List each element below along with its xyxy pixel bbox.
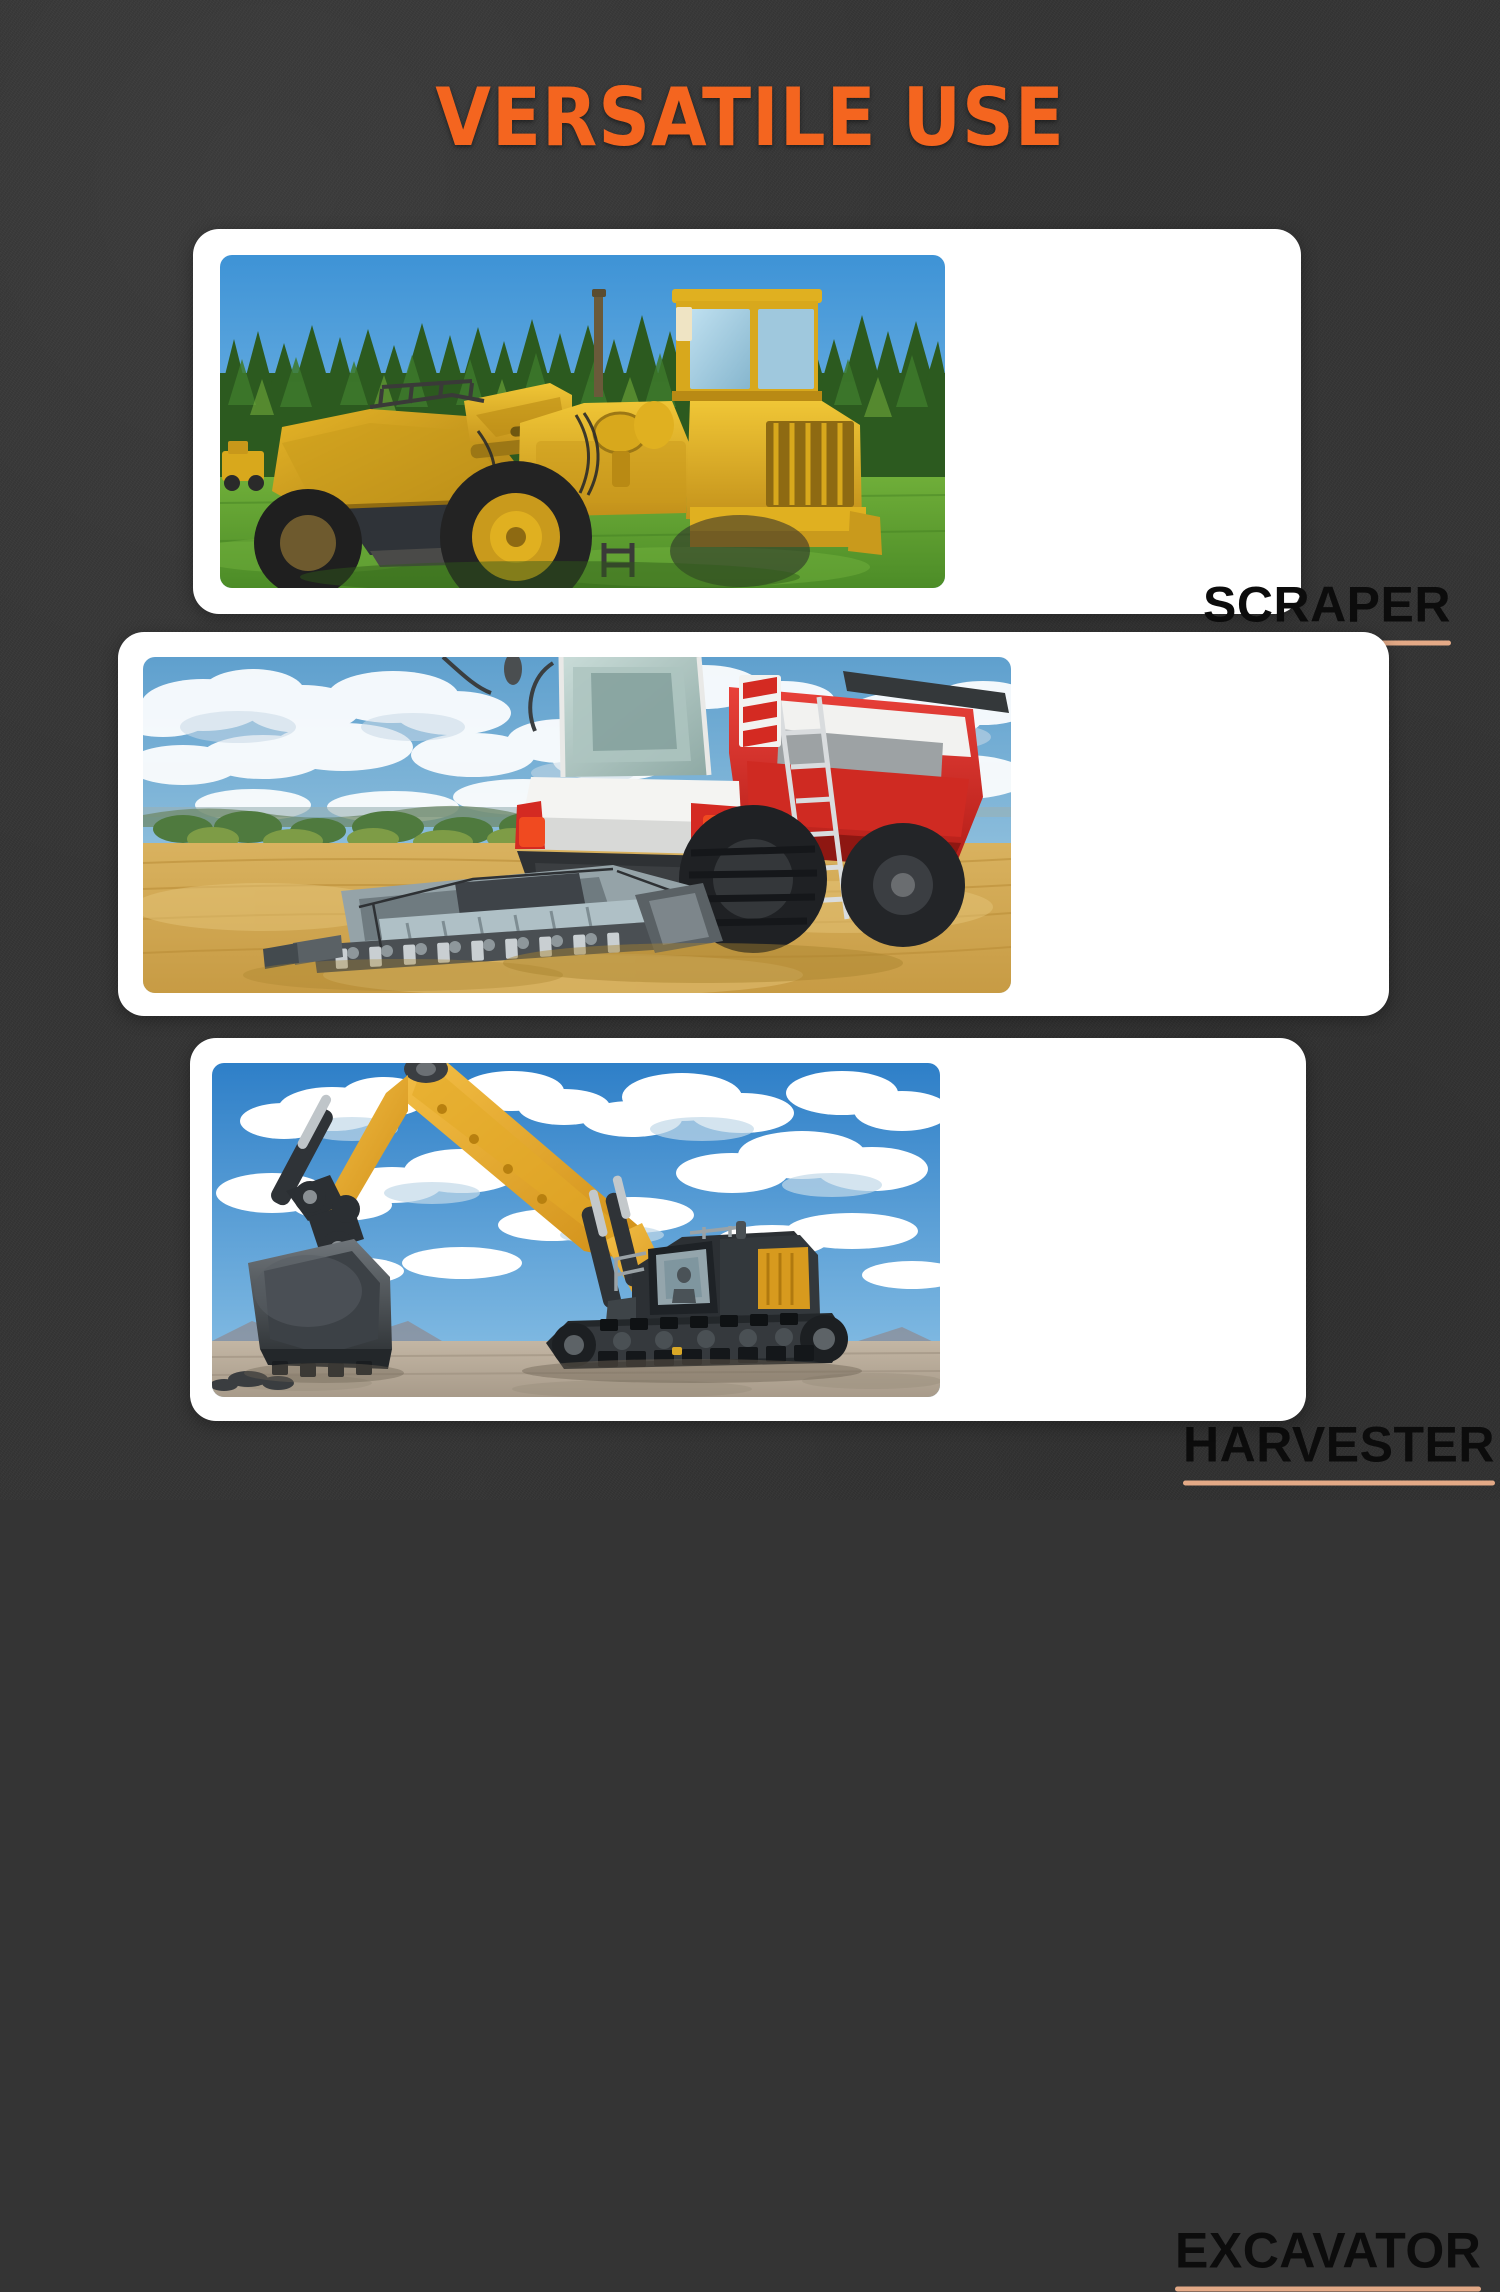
versatile-use-panel: VERSATILE USE [0,0,1500,1500]
excavator-photo [212,1063,940,1397]
caption-excavator-underline [1175,2287,1481,2292]
page-title: VERSATILE USE [75,78,1425,158]
feature-card-harvester[interactable]: HARVESTER [118,632,1389,1016]
feature-card-excavator[interactable]: EXCAVATOR [190,1038,1306,1421]
caption-scraper-label: SCRAPER [1203,577,1451,633]
caption-harvester: HARVESTER [1183,1417,1495,1486]
caption-excavator: EXCAVATOR [1175,2223,1481,2292]
caption-harvester-underline [1183,1481,1495,1486]
scraper-icon [220,255,945,588]
feature-card-scraper[interactable]: SCRAPER [193,229,1301,614]
scraper-photo [220,255,945,588]
caption-harvester-label: HARVESTER [1183,1417,1495,1473]
caption-excavator-label: EXCAVATOR [1175,2223,1481,2279]
excavator-icon [212,1063,940,1397]
harvester-photo [143,657,1011,993]
harvester-icon [143,657,1011,993]
